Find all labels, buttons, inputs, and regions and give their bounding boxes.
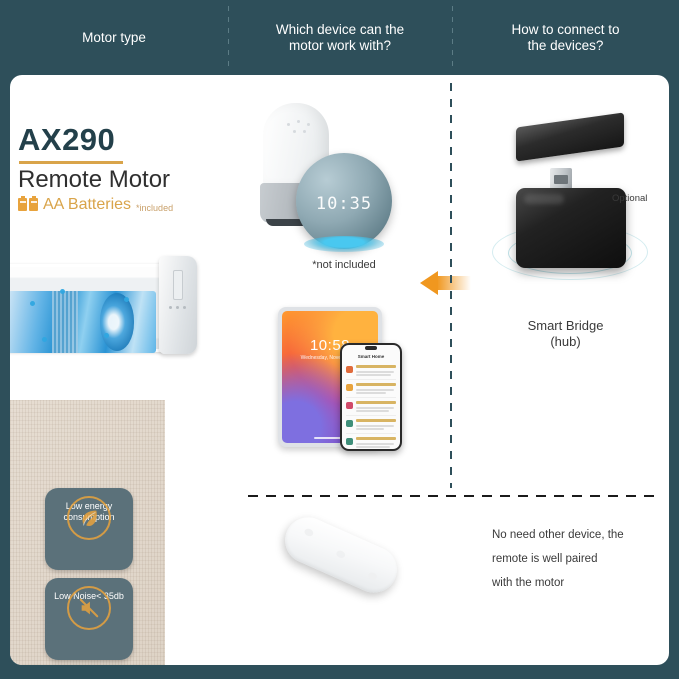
battery-info: AA Batteries *included xyxy=(18,196,228,214)
not-included-note: *not included xyxy=(238,259,450,271)
header-label-1: Motor type xyxy=(82,30,146,46)
echo-dot-speaker: 10:35 xyxy=(296,153,392,249)
product-title-block: AX290 Remote Motor AA Batteries *include… xyxy=(18,123,228,214)
leaf-icon xyxy=(67,496,111,540)
infographic-page: Motor type Which device can themotor wor… xyxy=(0,0,679,679)
motor-slot xyxy=(173,270,183,300)
battery-icon xyxy=(29,198,38,211)
header-column-motor-type: Motor type xyxy=(0,0,228,75)
title-rule xyxy=(19,161,123,164)
header-divider-1 xyxy=(228,6,229,70)
header-divider-2 xyxy=(452,6,453,70)
header-column-how-to-connect: How to connect tothe devices? xyxy=(452,0,679,75)
product-type: Remote Motor xyxy=(18,166,228,194)
list-item[interactable] xyxy=(346,363,396,380)
list-item[interactable] xyxy=(346,417,396,434)
remote-body xyxy=(278,510,405,600)
device-compat-panel: 10:35 *not included 10:58 Wednesday, Nov… xyxy=(238,75,450,665)
echo-clock-display: 10:35 xyxy=(296,194,392,214)
motor-shell xyxy=(10,264,164,352)
badge-low-energy: Low energyconsumption xyxy=(45,488,133,570)
remote-control xyxy=(266,512,416,632)
card-horizontal-divider xyxy=(248,495,658,497)
flow-arrow-icon xyxy=(420,265,472,301)
card-vertical-divider xyxy=(450,83,452,488)
hub-label: Smart Bridge(hub) xyxy=(462,318,669,350)
hub-body xyxy=(516,188,626,268)
header-label-2: Which device can themotor work with? xyxy=(276,22,404,54)
product-sku: AX290 xyxy=(18,123,228,157)
optional-label: Optional xyxy=(612,193,647,204)
phone-notch xyxy=(365,346,377,350)
header-label-3: How to connect tothe devices? xyxy=(511,22,619,54)
badge-low-noise: Low Noise< 35db xyxy=(45,578,133,660)
echo-light-ring xyxy=(304,236,384,252)
list-item[interactable] xyxy=(346,381,396,398)
phone-screen: Smart Home xyxy=(342,345,400,449)
how-to-connect-panel: Optional Smart Bridge(hub) No need other… xyxy=(462,75,669,665)
motor-illustration xyxy=(10,250,204,360)
smart-bridge-hub xyxy=(490,120,640,310)
motor-head xyxy=(159,256,197,354)
tablet-phone-group: 10:58 Wednesday, November 18 Smart Home xyxy=(278,307,428,457)
phone-app-title: Smart Home xyxy=(342,354,400,359)
list-item[interactable] xyxy=(346,435,396,449)
battery-label: AA Batteries xyxy=(43,196,131,214)
phone-device: Smart Home xyxy=(340,343,402,451)
battery-note: *included xyxy=(136,203,173,213)
motor-type-panel: AX290 Remote Motor AA Batteries *include… xyxy=(10,75,238,665)
list-item[interactable] xyxy=(346,399,396,416)
header-bar: Motor type Which device can themotor wor… xyxy=(0,0,679,75)
feature-badges: Low energyconsumption Low Noise< 35db xyxy=(45,488,133,665)
content-card: AX290 Remote Motor AA Batteries *include… xyxy=(10,75,669,665)
motor-leds xyxy=(169,306,186,309)
mute-speaker-icon xyxy=(67,586,111,630)
header-column-device-compat: Which device can themotor work with? xyxy=(228,0,452,75)
no-hub-description: No need other device, theremote is well … xyxy=(492,523,662,595)
usb-cap xyxy=(516,112,624,161)
battery-icon xyxy=(18,198,27,211)
